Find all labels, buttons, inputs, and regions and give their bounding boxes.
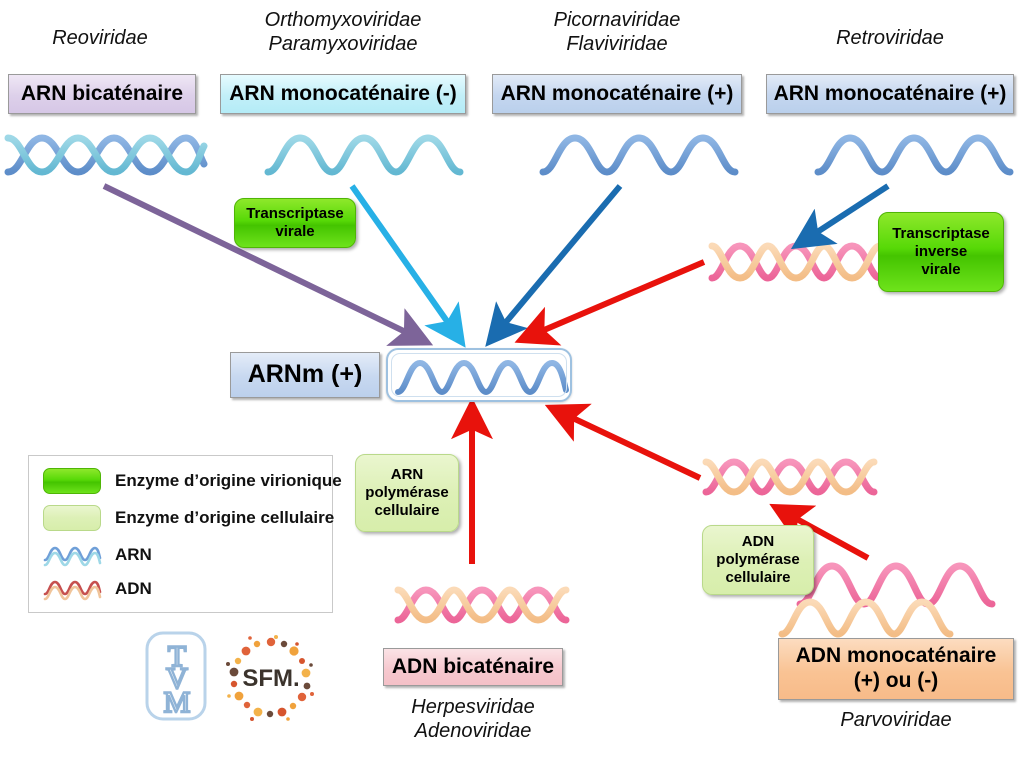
legend-panel: Enzyme d’origine virionique Enzyme d’ori…: [28, 455, 333, 613]
tvm-logo-icon: T V M: [142, 630, 212, 722]
legend-item-enzyme-cellulaire: Enzyme d’origine cellulaire: [43, 505, 334, 531]
legend-label: ARN: [115, 545, 152, 565]
family-caption-herpesviridae: Herpesviridae Adenoviridae: [373, 695, 573, 744]
enzyme-label-line: ARN: [391, 466, 424, 484]
legend-wave-dna-icon: [43, 576, 101, 602]
arrow-ssrna-positive-to-mrna: [496, 186, 620, 334]
legend-label: Enzyme d’origine cellulaire: [115, 508, 334, 528]
family-name-line: Herpesviridae: [373, 695, 573, 719]
family-name-line: Reoviridae: [52, 27, 148, 49]
family-name-line: Orthomyxoviridae: [218, 8, 468, 32]
arrow-replicative-form-to-mrna: [560, 412, 700, 478]
family-name-line: Flaviviridae: [492, 32, 742, 56]
enzyme-label-line: Transcriptase: [892, 225, 990, 243]
enzyme-box-transcriptase-virale[interactable]: Transcriptase virale: [234, 198, 356, 248]
genome-box-arn-monocatenaire-positif-picorna[interactable]: ARN monocaténaire (+): [492, 74, 742, 114]
legend-swatch-viral-enzyme: [43, 468, 101, 494]
ssrna-positive-strand-retroviridae: [818, 138, 1010, 172]
logo-tvm: T V M: [142, 630, 212, 722]
genome-label-line: ADN monocaténaire: [796, 644, 997, 669]
arrow-retroviridae-to-provirus: [805, 186, 888, 240]
enzyme-box-arn-polymerase-cellulaire[interactable]: ARN polymérase cellulaire: [355, 454, 459, 532]
enzyme-label-line: polymérase: [365, 484, 448, 502]
genome-box-arn-bicatenaire[interactable]: ARN bicaténaire: [8, 74, 196, 114]
family-caption-reoviridae: Reoviridae: [0, 26, 200, 50]
svg-text:M: M: [164, 686, 191, 719]
family-caption-picornaviridae: Picornaviridae Flaviviridae: [492, 8, 742, 57]
legend-label: Enzyme d’origine virionique: [115, 471, 342, 491]
family-name-line: Paramyxoviridae: [218, 32, 468, 56]
genome-box-arn-monocatenaire-negatif[interactable]: ARN monocaténaire (-): [220, 74, 466, 114]
diagram-canvas: Reoviridae Orthomyxoviridae Paramyxoviri…: [0, 0, 1024, 766]
enzyme-label-line: ADN: [742, 533, 775, 551]
enzyme-label-line: inverse: [915, 243, 968, 261]
ssrna-negative-strand: [268, 138, 460, 172]
legend-item-adn: ADN: [43, 576, 152, 602]
family-name-line: Picornaviridae: [492, 8, 742, 32]
family-name-line: Adenoviridae: [373, 719, 573, 743]
genome-box-arn-monocatenaire-positif-retro[interactable]: ARN monocaténaire (+): [766, 74, 1014, 114]
enzyme-label-line: cellulaire: [725, 569, 790, 587]
arrow-provirus-to-mrna: [530, 262, 704, 336]
family-caption-retroviridae: Retroviridae: [766, 26, 1014, 50]
enzyme-box-adn-polymerase-cellulaire[interactable]: ADN polymérase cellulaire: [702, 525, 814, 595]
enzyme-label-line: cellulaire: [374, 502, 439, 520]
genome-box-adn-monocatenaire[interactable]: ADN monocaténaire (+) ou (-): [778, 638, 1014, 700]
legend-swatch-cellular-enzyme: [43, 505, 101, 531]
dsdna-strand-herpesviridae: [398, 590, 566, 620]
family-caption-orthomyxoviridae: Orthomyxoviridae Paramyxoviridae: [218, 8, 468, 57]
logo-sfm: SFM.: [226, 634, 316, 722]
dsrna-strand-reoviridae: [8, 138, 204, 172]
enzyme-label-line: polymérase: [716, 551, 799, 569]
enzyme-label-line: virale: [275, 223, 314, 241]
genome-label-line: (+) ou (-): [854, 669, 939, 694]
genome-box-adn-bicatenaire[interactable]: ADN bicaténaire: [383, 648, 563, 686]
legend-item-enzyme-virionique: Enzyme d’origine virionique: [43, 468, 342, 494]
genome-box-arnm[interactable]: ARNm (+): [230, 352, 380, 398]
family-caption-parvoviridae: Parvoviridae: [778, 708, 1014, 732]
legend-wave-rna-icon: [43, 542, 101, 568]
enzyme-label-line: virale: [921, 261, 960, 279]
sfm-logo-icon: SFM.: [226, 634, 316, 722]
mrna-product-frame: [386, 348, 572, 402]
sfm-logo-text: SFM.: [242, 665, 299, 692]
legend-item-arn: ARN: [43, 542, 152, 568]
dsdna-replicative-form-strand: [706, 462, 874, 492]
dsdna-provirus-strand: [712, 246, 880, 278]
legend-label: ADN: [115, 579, 152, 599]
mrna-wave-graphic: [388, 350, 574, 404]
family-name-line: Retroviridae: [836, 27, 944, 49]
enzyme-label-line: Transcriptase: [246, 205, 344, 223]
enzyme-box-transcriptase-inverse-virale[interactable]: Transcriptase inverse virale: [878, 212, 1004, 292]
family-name-line: Parvoviridae: [840, 709, 951, 731]
ssrna-positive-strand-picornaviridae: [543, 138, 735, 172]
